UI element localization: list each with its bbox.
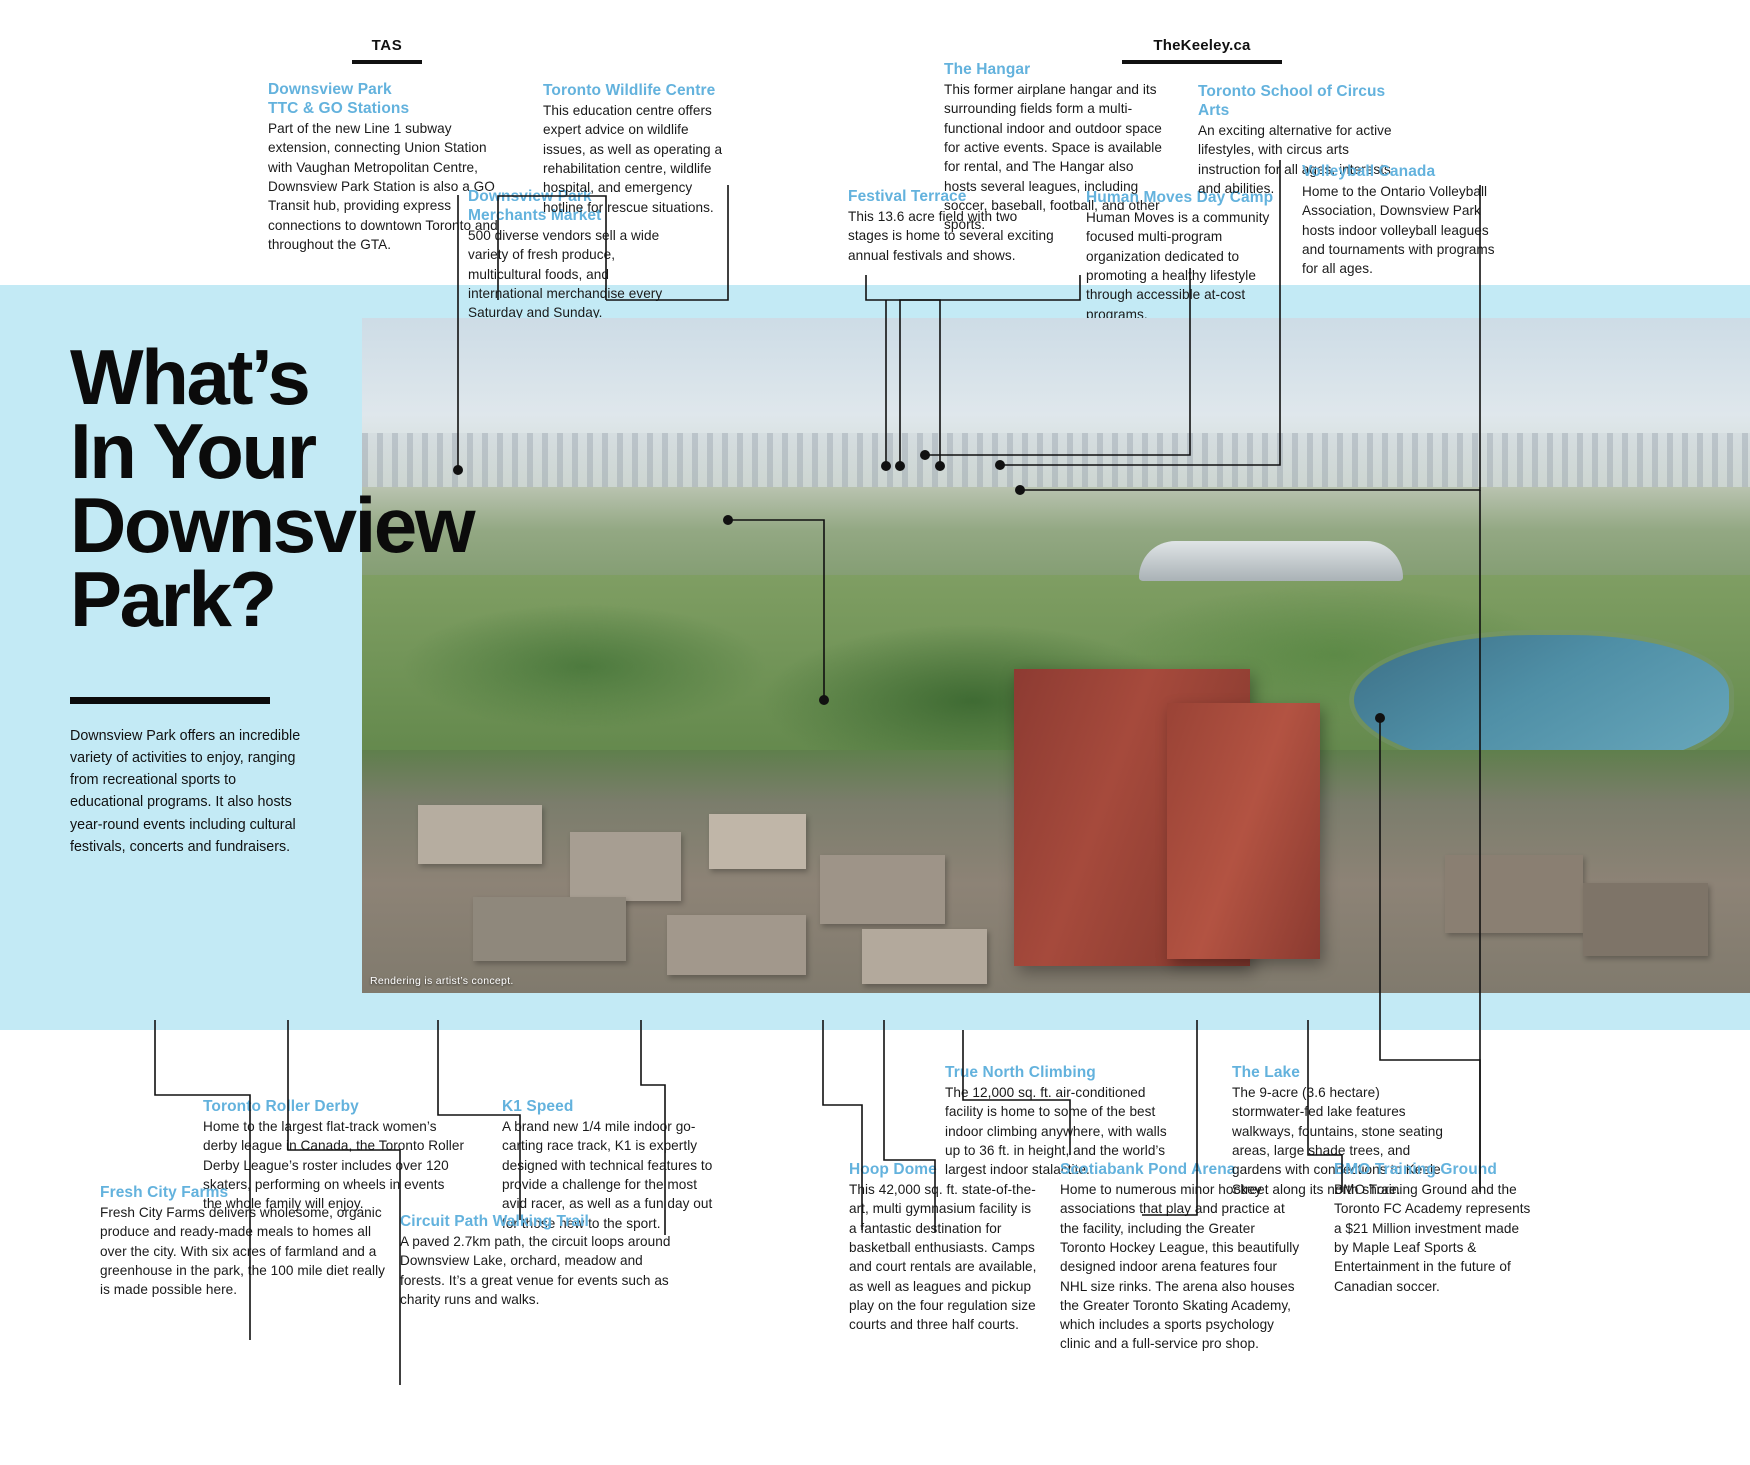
callout-title: Volleyball Canada	[1302, 162, 1498, 181]
callout-title: Downsview Park TTC & GO Stations	[268, 80, 500, 118]
photo-block	[473, 897, 626, 961]
callout-hoop-dome[interactable]: Hoop Dome This 42,000 sq. ft. state-of-t…	[849, 1160, 1041, 1334]
brand-tas-label: TAS	[352, 38, 422, 53]
callout-title: Toronto School of Circus Arts	[1198, 82, 1394, 120]
callout-body: Human Moves is a community focused multi…	[1086, 208, 1297, 324]
photo-block	[418, 805, 543, 865]
brand-tas: TAS	[352, 38, 422, 64]
callout-title: Fresh City Farms	[100, 1183, 390, 1202]
callout-title: The Hangar	[944, 60, 1170, 79]
callout-toronto-wildlife-centre[interactable]: Toronto Wildlife Centre This education c…	[543, 81, 735, 217]
callout-fresh-city-farms[interactable]: Fresh City Farms Fresh City Farms delive…	[100, 1183, 390, 1300]
callout-body: This 42,000 sq. ft. state-of-the-art, mu…	[849, 1180, 1041, 1334]
callout-body: A paved 2.7km path, the circuit loops ar…	[400, 1232, 690, 1309]
callout-title: True North Climbing	[945, 1063, 1171, 1082]
callout-body: 500 diverse vendors sell a wide variety …	[468, 226, 668, 322]
photo-block	[667, 915, 806, 975]
page-title: What’s In Your Downsview Park?	[70, 340, 400, 636]
callout-title: K1 Speed	[502, 1097, 714, 1116]
callout-bmo-training-ground[interactable]: BMO Training Ground BMO Training Ground …	[1334, 1160, 1534, 1296]
callout-body: Home to the Ontario Volleyball Associati…	[1302, 182, 1498, 278]
intro-paragraph: Downsview Park offers an incredible vari…	[70, 725, 310, 858]
page-title-line-2: In Your	[70, 414, 400, 488]
callout-downsview-park-ttc-go-stations[interactable]: Downsview Park TTC & GO Stations Part of…	[268, 80, 500, 254]
brand-tas-rule	[352, 60, 422, 64]
photo-block	[1583, 883, 1708, 956]
photo-block	[709, 814, 806, 869]
brand-thekeeley-label: TheKeeley.ca	[1122, 38, 1282, 53]
callout-circuit-path-walking-trail[interactable]: Circuit Path Walking Trail A paved 2.7km…	[400, 1212, 690, 1309]
callout-body: Home to numerous minor hockey associatio…	[1060, 1180, 1300, 1354]
callout-title: Toronto Roller Derby	[203, 1097, 465, 1116]
page-title-line-3: Downsview	[70, 488, 400, 562]
callout-title: BMO Training Ground	[1334, 1160, 1534, 1179]
callout-body: This education centre offers expert advi…	[543, 101, 735, 217]
photo-city-skyline	[362, 433, 1750, 494]
photo-residential-tower-secondary	[1167, 703, 1320, 960]
photo-credit: Rendering is artist’s concept.	[370, 975, 514, 987]
callout-body: Fresh City Farms delivers wholesome, org…	[100, 1203, 390, 1299]
photo-block	[862, 929, 987, 984]
callout-body: Part of the new Line 1 subway extension,…	[268, 119, 500, 254]
callout-body: BMO Training Ground and the Toronto FC A…	[1334, 1180, 1534, 1296]
callout-title: Circuit Path Walking Trail	[400, 1212, 690, 1231]
callout-volleyball-canada[interactable]: Volleyball Canada Home to the Ontario Vo…	[1302, 162, 1498, 279]
aerial-rendering-photo	[362, 318, 1750, 993]
callout-title: Toronto Wildlife Centre	[543, 81, 735, 100]
page-title-line-4: Park?	[70, 562, 400, 636]
page-title-rule	[70, 697, 270, 704]
photo-block	[1445, 855, 1584, 933]
photo-block	[570, 832, 681, 901]
photo-hangar-building	[1139, 541, 1403, 582]
page-title-line-1: What’s	[70, 340, 400, 414]
callout-title: The Lake	[1232, 1063, 1452, 1082]
photo-block	[820, 855, 945, 924]
callout-human-moves-day-camp[interactable]: Human Moves Day Camp Human Moves is a co…	[1086, 188, 1297, 324]
